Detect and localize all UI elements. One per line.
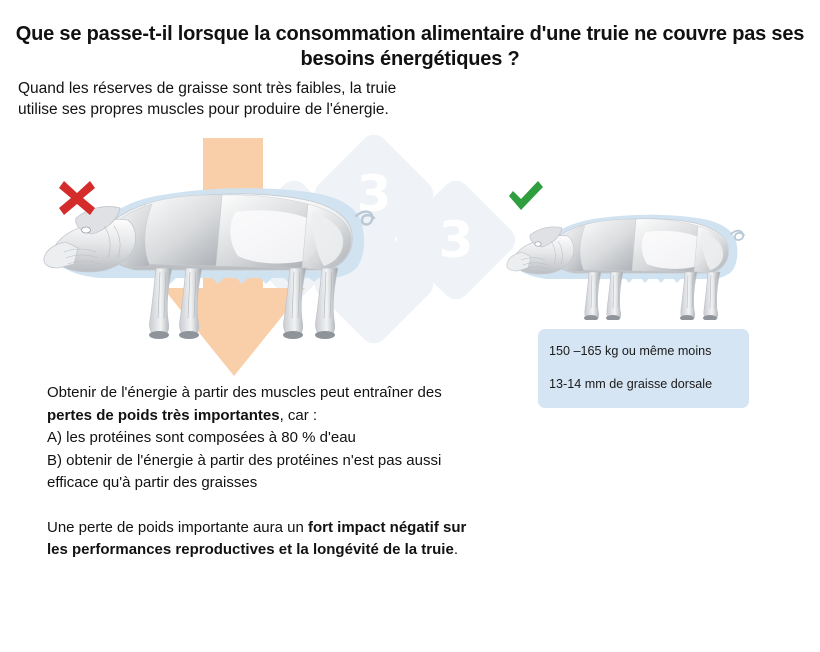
pig-legs: [584, 272, 720, 320]
infographic-page: 3 3 Que se passe-t-il lorsque la consomm…: [0, 0, 820, 652]
info-line-backfat: 13-14 mm de graisse dorsale: [549, 377, 749, 392]
paragraph-impact: Une perte de poids importante aura un fo…: [47, 517, 467, 562]
list-item-b: B) obtenir de l'énergie à partir des pro…: [47, 450, 467, 495]
list-item-a: A) les protéines sont composées à 80 % d…: [47, 427, 467, 450]
para1-pre: Obtenir de l'énergie à partir des muscle…: [47, 384, 442, 401]
info-line-weight: 150 –165 kg ou même moins: [549, 344, 749, 359]
para1-post: , car :: [280, 407, 318, 424]
page-title: Que se passe-t-il lorsque la consommatio…: [14, 22, 806, 72]
paragraph-weight-loss: Obtenir de l'énergie à partir des muscle…: [47, 382, 467, 427]
pig-snout: [44, 242, 78, 268]
x-mark-bad-condition: [56, 176, 98, 223]
pig-eye: [535, 242, 541, 246]
para1-bold: pertes de poids très importantes: [47, 407, 280, 424]
para2-pre: Une perte de poids importante aura un: [47, 519, 308, 536]
para2-post: .: [454, 541, 458, 558]
page-subtitle: Quand les réserves de graisse sont très …: [18, 78, 538, 120]
pig-eye: [82, 227, 91, 233]
watermark-tile: [391, 175, 521, 305]
check-mark-good-condition: [505, 178, 547, 219]
check-icon: [505, 178, 547, 214]
info-box-target-values: 150 –165 kg ou même moins 13-14 mm de gr…: [538, 329, 749, 408]
body-text-block: Obtenir de l'énergie à partir des muscle…: [47, 382, 467, 562]
watermark-digit: 3: [410, 194, 502, 286]
paragraph-spacer: [47, 495, 467, 517]
cross-icon: [56, 176, 98, 218]
